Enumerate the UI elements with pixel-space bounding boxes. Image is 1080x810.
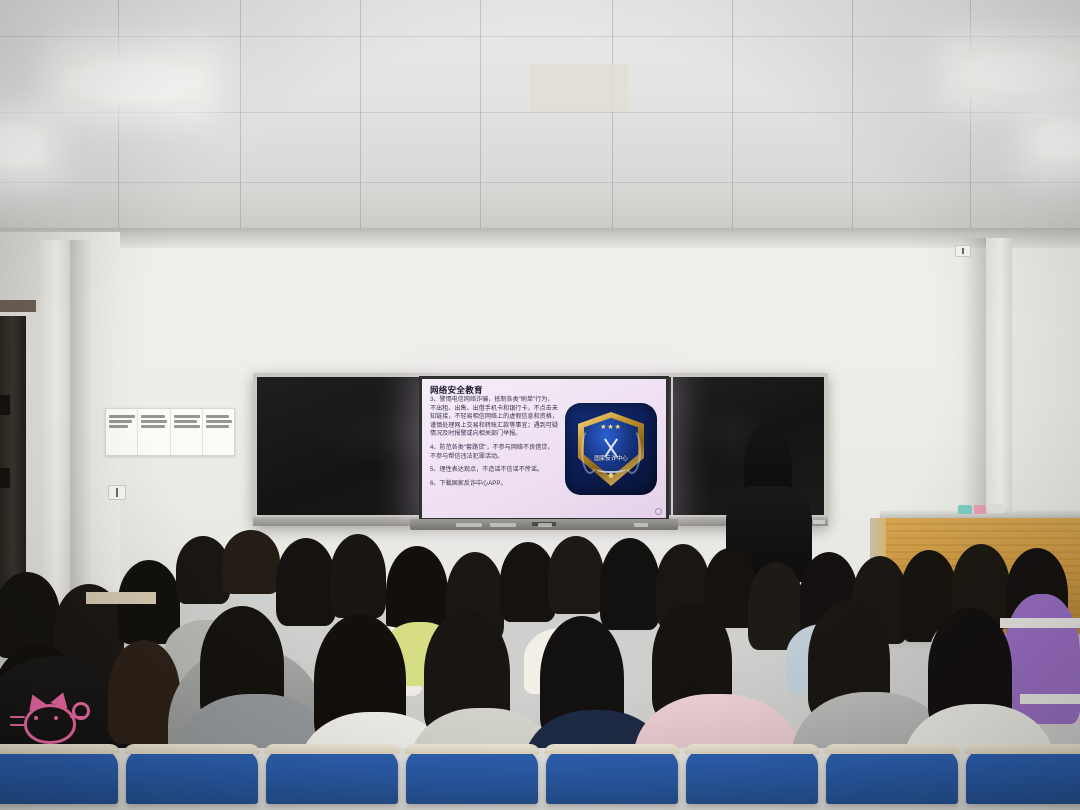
door-panel-strip (0, 468, 10, 488)
ceiling (0, 0, 1080, 236)
door-header (0, 300, 36, 312)
slide-paragraph: 5、理性表达观点，不造谣不信谣不传谣。 (430, 466, 558, 475)
auditorium-seat[interactable] (266, 750, 398, 804)
wall-pillar-right (986, 238, 1012, 528)
sprinkler-icon (612, 132, 619, 148)
notice-cell (138, 409, 170, 455)
auditorium-seat[interactable] (826, 750, 958, 804)
wing-icon (596, 465, 626, 473)
student-head (600, 538, 660, 630)
slide-paragraph: 3、警惕电信网络诈骗，抵制各类"刷单"行为，不出租、出售、出借手机卡和银行卡，不… (430, 396, 558, 439)
ceiling-light (956, 50, 1080, 94)
corner-shadow-right (962, 238, 986, 528)
desk-edge (1020, 694, 1080, 704)
fire-alarm-icon (228, 72, 244, 94)
door-panel-strip (0, 395, 10, 415)
student-head (222, 530, 280, 594)
ceiling-light (60, 58, 204, 104)
sprinkler-icon (1055, 132, 1062, 148)
student-head (276, 538, 336, 626)
notice-cell (106, 409, 138, 455)
light-switch[interactable] (955, 245, 971, 257)
ceiling-light (0, 122, 44, 168)
student-head (548, 536, 604, 614)
slide-paragraph: 4、防范各类"套路贷"，不参与网络不良借贷，不参与帮信违法犯罪活动。 (430, 444, 558, 461)
shield-icon: ★★★ 国家反诈中心 (578, 412, 644, 486)
classroom-photo: 网络安全教育 3、警惕电信网络诈骗，抵制各类"刷单"行为，不出租、出售、出借手机… (0, 0, 1080, 810)
slide-paragraph: 6、下载国家反诈中心APP。 (430, 480, 558, 489)
auditorium-seat[interactable] (686, 750, 818, 804)
auditorium-seat[interactable] (0, 750, 118, 804)
sprinkler-icon (130, 132, 137, 148)
badge-stars: ★★★ (600, 423, 622, 431)
student-body-purple (1004, 594, 1080, 724)
seat-row (0, 748, 1080, 810)
anti-fraud-app-icon: ★★★ 国家反诈中心 (565, 403, 657, 495)
wall-soffit (0, 232, 1080, 248)
fire-alarm-icon (903, 68, 919, 90)
auditorium-seat[interactable] (546, 750, 678, 804)
auditorium-seat[interactable] (126, 750, 258, 804)
auditorium-seat[interactable] (406, 750, 538, 804)
badge-label: 国家反诈中心 (594, 454, 628, 462)
auditorium-seat[interactable] (966, 750, 1080, 804)
slide-title: 网络安全教育 (430, 384, 483, 396)
audience: I BALENCIAGA KE AIR (0, 498, 1080, 810)
student-head (330, 534, 386, 618)
notice-cell (203, 409, 234, 455)
wall-notice-board[interactable] (105, 408, 235, 456)
badge-dot-icon (609, 473, 614, 478)
notice-cell (171, 409, 203, 455)
desk-edge (86, 592, 156, 604)
slide-body: 3、警惕电信网络诈骗，抵制各类"刷单"行为，不出租、出售、出借手机卡和银行卡，不… (430, 396, 558, 493)
desk-edge (1000, 618, 1080, 628)
